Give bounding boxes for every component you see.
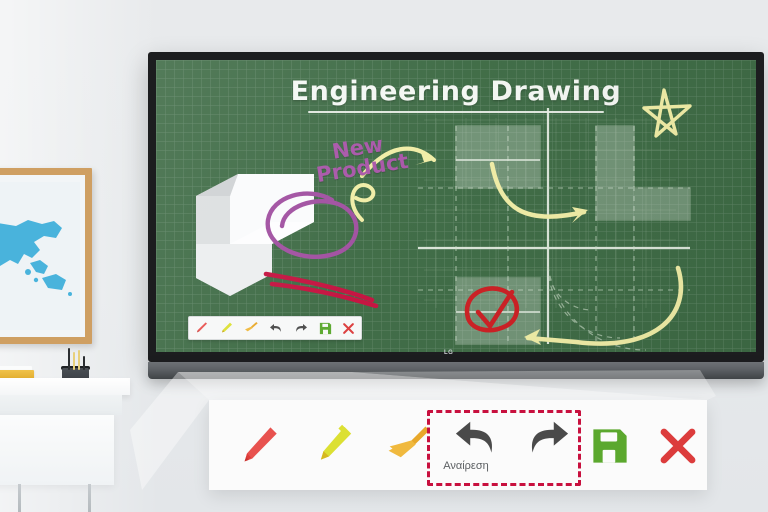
pen-1 [68, 348, 70, 370]
undo-caption: Αναίρεση [430, 460, 502, 473]
brand-logo: LG [444, 350, 453, 356]
world-map-icon [0, 208, 90, 313]
undo-redo-highlight-box [427, 410, 581, 486]
pen-tool-button[interactable] [229, 418, 285, 474]
broom-icon[interactable] [243, 320, 259, 336]
red-underline-strokes [266, 274, 376, 306]
desk-drawer-unit [0, 415, 114, 485]
close-x-icon [657, 425, 699, 467]
interactive-display: Engineering Drawing [148, 52, 764, 362]
pen-2 [73, 352, 75, 370]
save-tool-button[interactable] [582, 418, 638, 474]
desk-top [0, 378, 130, 395]
orthographic-side-view [596, 126, 690, 220]
highlighter-icon [307, 420, 359, 472]
scene-root: Engineering Drawing [0, 0, 768, 512]
chalkboard-screen[interactable]: Engineering Drawing [156, 60, 756, 352]
save-disk-icon[interactable] [318, 321, 333, 336]
pencil-icon [231, 420, 283, 472]
poster-mat [0, 182, 80, 330]
desk-leg-left [18, 484, 21, 512]
desk-apron [0, 395, 122, 415]
close-x-icon[interactable] [341, 321, 356, 336]
pencil-icon[interactable] [193, 320, 209, 336]
save-disk-icon [589, 425, 631, 467]
desk-leg-right [88, 484, 91, 512]
poster-glass [0, 175, 85, 337]
purple-circle-annotation [268, 194, 357, 257]
close-tool-button[interactable] [650, 418, 706, 474]
on-screen-toolbar[interactable] [188, 316, 362, 340]
undo-arrow-icon[interactable] [268, 320, 284, 336]
yellow-star [644, 90, 690, 136]
world-map-poster [0, 168, 92, 344]
display-bottom-bar [148, 362, 764, 379]
highlighter-tool-button[interactable] [305, 418, 361, 474]
redo-arrow-icon[interactable] [293, 320, 309, 336]
pen-3 [78, 350, 80, 370]
pen-4 [83, 356, 85, 370]
highlighter-icon[interactable] [218, 320, 234, 336]
